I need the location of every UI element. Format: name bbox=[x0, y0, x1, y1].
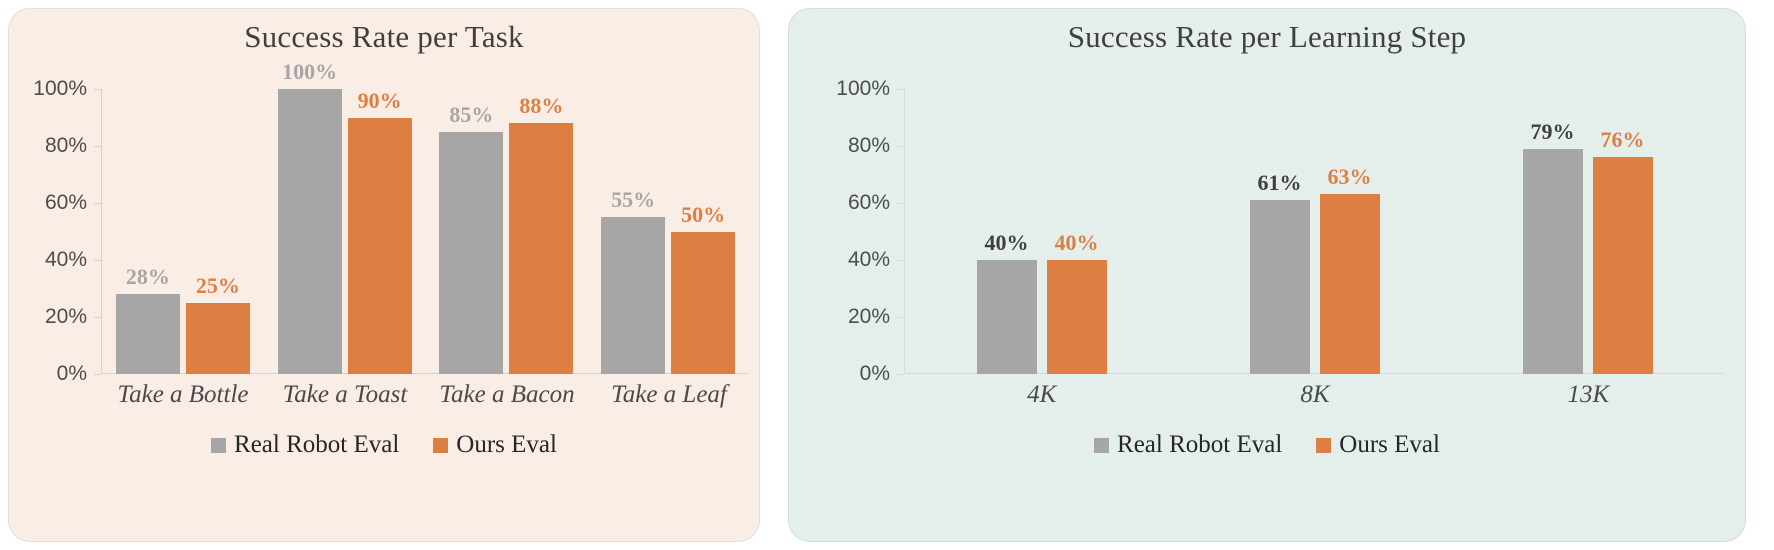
legend-swatch-icon-real bbox=[211, 438, 226, 453]
bar-slot: 63% bbox=[1320, 89, 1380, 374]
category-label: Take a Toast bbox=[264, 381, 426, 409]
bar-real-robot-eval[interactable] bbox=[439, 132, 503, 374]
bar-ours-eval[interactable] bbox=[348, 118, 412, 375]
y-tick-label: 100% bbox=[33, 77, 87, 101]
bar-slot: 88% bbox=[509, 89, 573, 374]
y-tick-label: 40% bbox=[45, 248, 87, 272]
bar-slot: 76% bbox=[1593, 89, 1653, 374]
bar-ours-eval[interactable] bbox=[186, 303, 250, 374]
bar-value-label: 50% bbox=[681, 202, 725, 228]
left-chart-title: Success Rate per Task bbox=[9, 19, 759, 55]
bar-slot: 85% bbox=[439, 89, 503, 374]
right-plot-area: 100%80%60%40%20%0% 40%40%61%63%79%76% bbox=[904, 89, 1724, 374]
y-tick-label: 20% bbox=[45, 305, 87, 329]
right-bar-groups: 40%40%61%63%79%76% bbox=[905, 89, 1724, 374]
category-label: Take a Bacon bbox=[426, 381, 588, 409]
y-tick-mark bbox=[897, 317, 904, 318]
bar-value-label: 90% bbox=[358, 88, 402, 114]
y-tick-mark bbox=[94, 317, 101, 318]
bar-real-robot-eval[interactable] bbox=[601, 217, 665, 374]
bar-value-label: 40% bbox=[985, 230, 1029, 256]
right-legend: Real Robot Eval Ours Eval bbox=[789, 431, 1745, 459]
bar-slot: 100% bbox=[278, 89, 342, 374]
left-plot-area: 100%80%60%40%20%0% 28%25%100%90%85%88%55… bbox=[101, 89, 749, 374]
left-legend: Real Robot Eval Ours Eval bbox=[9, 431, 759, 459]
bar-ours-eval[interactable] bbox=[509, 123, 573, 374]
bar-group: 61%63% bbox=[1178, 89, 1451, 374]
bar-slot: 79% bbox=[1523, 89, 1583, 374]
legend-item-ours-eval: Ours Eval bbox=[1316, 431, 1440, 459]
bar-slot: 61% bbox=[1250, 89, 1310, 374]
y-tick-mark bbox=[94, 146, 101, 147]
legend-item-ours-eval: Ours Eval bbox=[433, 431, 557, 459]
y-tick-mark bbox=[897, 146, 904, 147]
bar-ours-eval[interactable] bbox=[1593, 157, 1653, 374]
y-tick-label: 60% bbox=[848, 191, 890, 215]
bar-group: 85%88% bbox=[426, 89, 588, 374]
y-tick-label: 40% bbox=[848, 248, 890, 272]
bar-ours-eval[interactable] bbox=[671, 232, 735, 375]
bar-value-label: 100% bbox=[282, 59, 337, 85]
category-label: 4K bbox=[905, 381, 1178, 409]
bar-group: 28%25% bbox=[102, 89, 264, 374]
right-category-labels: 4K8K13K bbox=[905, 381, 1725, 409]
bar-group: 40%40% bbox=[905, 89, 1178, 374]
bar-slot: 40% bbox=[977, 89, 1037, 374]
bar-value-label: 76% bbox=[1601, 127, 1645, 153]
bar-slot: 25% bbox=[186, 89, 250, 374]
y-tick-label: 60% bbox=[45, 191, 87, 215]
y-tick-mark bbox=[897, 374, 904, 375]
y-tick-mark bbox=[94, 260, 101, 261]
y-tick-mark bbox=[897, 89, 904, 90]
y-tick-label: 100% bbox=[836, 77, 890, 101]
bar-real-robot-eval[interactable] bbox=[1523, 149, 1583, 374]
bar-real-robot-eval[interactable] bbox=[977, 260, 1037, 374]
y-tick-label: 80% bbox=[848, 134, 890, 158]
category-label: Take a Bottle bbox=[102, 381, 264, 409]
bar-value-label: 40% bbox=[1055, 230, 1099, 256]
legend-label-real: Real Robot Eval bbox=[1117, 431, 1282, 459]
y-tick-label: 0% bbox=[860, 362, 890, 386]
chart-board: Success Rate per Task 100%80%60%40%20%0%… bbox=[0, 0, 1774, 550]
legend-swatch-icon-ours bbox=[1316, 438, 1331, 453]
bar-value-label: 61% bbox=[1258, 170, 1302, 196]
category-label: Take a Leaf bbox=[588, 381, 750, 409]
y-tick-mark bbox=[94, 374, 101, 375]
bar-slot: 90% bbox=[348, 89, 412, 374]
category-label: 13K bbox=[1452, 381, 1725, 409]
y-tick-mark bbox=[94, 203, 101, 204]
category-label: 8K bbox=[1178, 381, 1451, 409]
bar-slot: 55% bbox=[601, 89, 665, 374]
y-tick-label: 20% bbox=[848, 305, 890, 329]
legend-swatch-icon-ours bbox=[433, 438, 448, 453]
legend-label-ours: Ours Eval bbox=[1339, 431, 1440, 459]
legend-item-real-robot-eval: Real Robot Eval bbox=[211, 431, 399, 459]
bar-value-label: 79% bbox=[1531, 119, 1575, 145]
bar-real-robot-eval[interactable] bbox=[1250, 200, 1310, 374]
y-tick-mark bbox=[897, 260, 904, 261]
legend-item-real-robot-eval: Real Robot Eval bbox=[1094, 431, 1282, 459]
panel-success-rate-per-learning-step: Success Rate per Learning Step 100%80%60… bbox=[788, 8, 1746, 542]
bar-group: 55%50% bbox=[587, 89, 749, 374]
bar-slot: 28% bbox=[116, 89, 180, 374]
y-tick-mark bbox=[94, 89, 101, 90]
legend-label-ours: Ours Eval bbox=[456, 431, 557, 459]
bar-value-label: 25% bbox=[196, 273, 240, 299]
bar-group: 100%90% bbox=[264, 89, 426, 374]
legend-label-real: Real Robot Eval bbox=[234, 431, 399, 459]
y-tick-label: 80% bbox=[45, 134, 87, 158]
bar-ours-eval[interactable] bbox=[1047, 260, 1107, 374]
left-category-labels: Take a BottleTake a ToastTake a BaconTak… bbox=[102, 381, 750, 409]
y-tick-label: 0% bbox=[57, 362, 87, 386]
legend-swatch-icon-real bbox=[1094, 438, 1109, 453]
bar-ours-eval[interactable] bbox=[1320, 194, 1380, 374]
panel-success-rate-per-task: Success Rate per Task 100%80%60%40%20%0%… bbox=[8, 8, 760, 542]
bar-real-robot-eval[interactable] bbox=[116, 294, 180, 374]
bar-value-label: 55% bbox=[611, 187, 655, 213]
bar-group: 79%76% bbox=[1451, 89, 1724, 374]
bar-value-label: 88% bbox=[519, 93, 563, 119]
bar-value-label: 28% bbox=[126, 264, 170, 290]
bar-value-label: 85% bbox=[449, 102, 493, 128]
right-chart-title: Success Rate per Learning Step bbox=[789, 19, 1745, 55]
bar-slot: 50% bbox=[671, 89, 735, 374]
bar-real-robot-eval[interactable] bbox=[278, 89, 342, 374]
left-bar-groups: 28%25%100%90%85%88%55%50% bbox=[102, 89, 749, 374]
bar-value-label: 63% bbox=[1328, 164, 1372, 190]
bar-slot: 40% bbox=[1047, 89, 1107, 374]
y-tick-mark bbox=[897, 203, 904, 204]
